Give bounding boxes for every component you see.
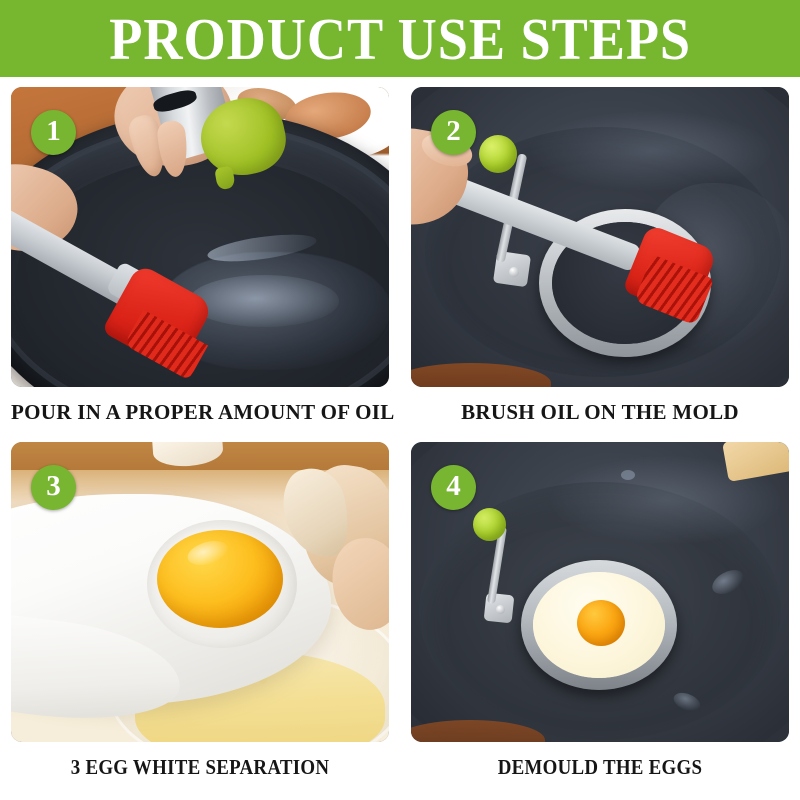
step-badge-2: 2	[431, 110, 476, 155]
step-caption-3: 3 EGG WHITE SEPARATION	[30, 754, 370, 780]
page-title: PRODUCT USE STEPS	[109, 8, 691, 70]
step-card-4: 4 DEMOULD THE EGGS	[411, 442, 789, 780]
step-badge-1: 1	[31, 110, 76, 155]
step-number-1: 1	[46, 117, 61, 146]
header-banner: PRODUCT USE STEPS	[0, 0, 800, 77]
step-number-2: 2	[446, 117, 461, 146]
step-caption-2: BRUSH OIL ON THE MOLD	[411, 399, 789, 425]
step-photo-3: 3	[11, 442, 389, 742]
green-handle-knob	[479, 135, 517, 173]
product-use-steps-infographic: PRODUCT USE STEPS	[0, 0, 800, 800]
steps-grid: 1 POUR IN A PROPER AMOUNT OF OIL	[11, 87, 789, 787]
step-badge-4: 4	[431, 465, 476, 510]
oil-pool-highlight	[189, 275, 339, 327]
fried-egg-yolk	[577, 600, 625, 646]
mold-handle-rivet	[496, 605, 505, 614]
step-number-3: 3	[46, 472, 61, 501]
step-card-3: 3 3 EGG WHITE SEPARATION	[11, 442, 389, 780]
step-photo-2: 2	[411, 87, 789, 387]
step-photo-1: 1	[11, 87, 389, 387]
oil-droplet-small	[621, 470, 635, 480]
step-card-1: 1 POUR IN A PROPER AMOUNT OF OIL	[11, 87, 389, 425]
pan-sheen	[531, 111, 771, 191]
step-caption-4: DEMOULD THE EGGS	[430, 754, 770, 780]
step-card-2: 2 BRUSH OIL ON THE MOLD	[411, 87, 789, 425]
step-number-4: 4	[446, 472, 461, 501]
step-caption-1: POUR IN A PROPER AMOUNT OF OIL	[11, 399, 389, 425]
step-photo-4: 4	[411, 442, 789, 742]
step-badge-3: 3	[31, 465, 76, 510]
green-handle-knob	[473, 508, 506, 541]
mold-handle-rivet	[509, 267, 519, 277]
